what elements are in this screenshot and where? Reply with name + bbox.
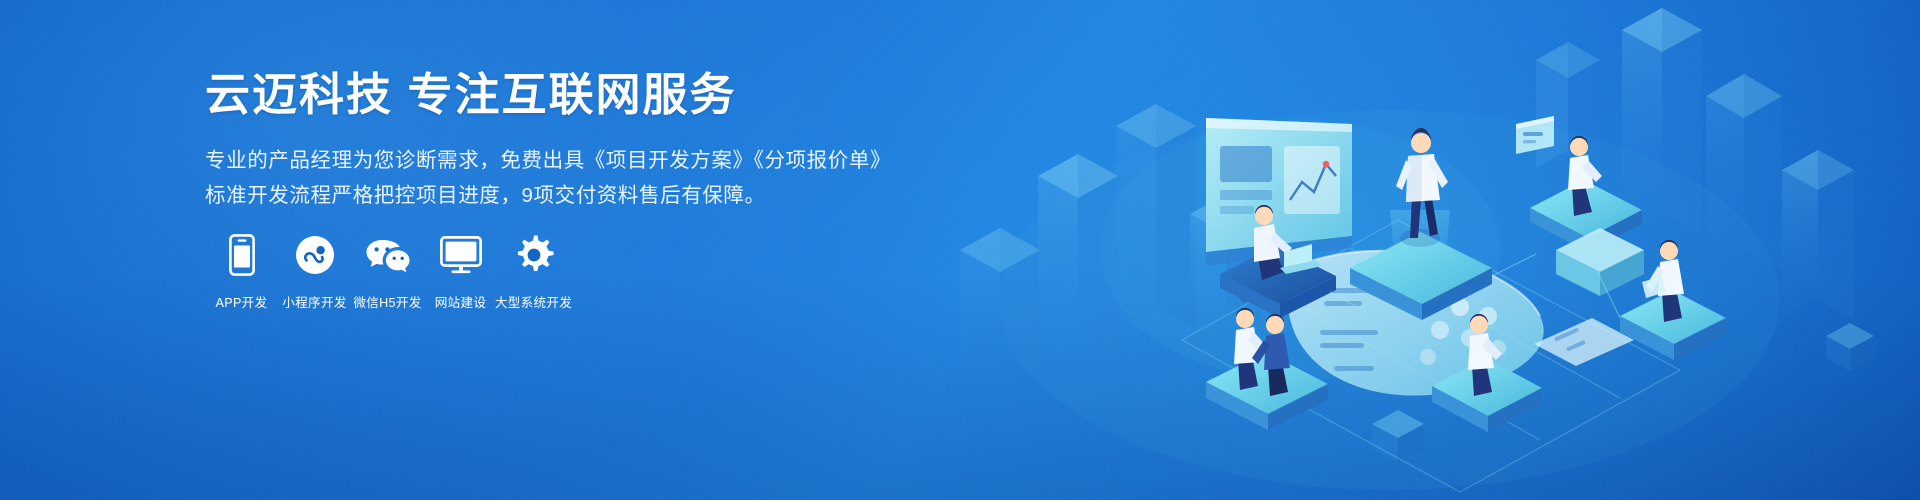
service-label: 网站建设 — [435, 292, 487, 311]
hero-subtitle: 专业的产品经理为您诊断需求，免费出具《项目开发方案》《分项报价单》 标准开发流程… — [205, 143, 891, 214]
page-title: 云迈科技 专注互联网服务 — [205, 68, 891, 121]
mini-program-icon — [295, 232, 335, 278]
wechat-icon — [365, 232, 411, 278]
service-list: APP开发 小程序开发 — [205, 232, 570, 311]
service-label: 大型系统开发 — [495, 292, 572, 311]
service-item-website[interactable]: 网站建设 — [424, 232, 497, 311]
subtitle-line-1: 专业的产品经理为您诊断需求，免费出具《项目开发方案》《分项报价单》 — [205, 143, 891, 178]
service-label: APP开发 — [216, 292, 268, 311]
floating-cube-2 — [1826, 323, 1874, 371]
monitor-icon — [440, 232, 482, 278]
isometric-digital-team-illustration — [920, 0, 1920, 500]
hero-copy: 云迈科技 专注互联网服务 专业的产品经理为您诊断需求，免费出具《项目开发方案》《… — [205, 68, 891, 214]
service-item-wechat-h5[interactable]: 微信H5开发 — [351, 232, 424, 311]
mobile-phone-icon — [229, 232, 255, 278]
service-label: 微信H5开发 — [353, 292, 421, 311]
service-item-miniprogram[interactable]: 小程序开发 — [278, 232, 351, 311]
hero-banner: 云迈科技 专注互联网服务 专业的产品经理为您诊断需求，免费出具《项目开发方案》《… — [0, 0, 1920, 500]
service-item-large-system[interactable]: 大型系统开发 — [497, 232, 570, 311]
service-item-app[interactable]: APP开发 — [205, 232, 278, 311]
gear-icon — [513, 232, 555, 278]
service-label: 小程序开发 — [282, 292, 346, 311]
subtitle-line-2: 标准开发流程严格把控项目进度，9项交付资料售后有保障。 — [205, 178, 891, 213]
